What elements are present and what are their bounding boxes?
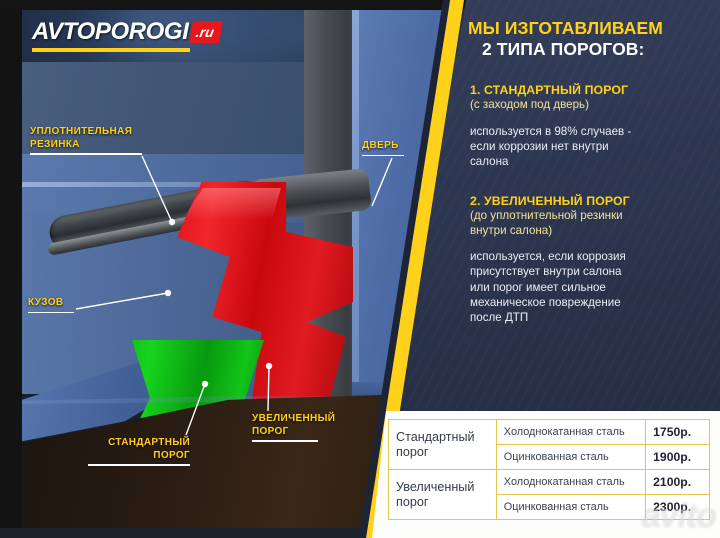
headline-line-1: МЫ ИЗГОТАВЛИВАЕМ (468, 18, 706, 39)
price-row-name: Стандартный порог (389, 420, 497, 470)
section-extended: 2. УВЕЛИЧЕННЫЙ ПОРОГ (до уплотнительной … (470, 194, 706, 325)
callout-body-label: КУЗОВ (28, 297, 74, 310)
callout-body: КУЗОВ (28, 297, 74, 313)
frame-border-top (0, 0, 470, 10)
callout-rubber-seal-label: УПЛОТНИТЕЛЬНАЯ РЕЗИНКА (30, 126, 142, 151)
section-extended-body: используется, если коррозия присутствует… (470, 249, 706, 325)
logo-underline-bar (32, 48, 190, 52)
logo-wordmark: AVTOPOROGI (32, 18, 188, 46)
section-standard-body: используется в 98% случаев - если корроз… (470, 124, 706, 170)
price-row-name: Увеличенный порог (389, 470, 497, 520)
price-row-price: 1900р. (646, 445, 710, 470)
callout-standard-sill: СТАНДАРТНЫЙ ПОРОГ (88, 437, 190, 466)
callout-underline (30, 153, 142, 155)
price-row-price: 2300р. (646, 495, 710, 520)
frame-border-left (0, 0, 22, 538)
callout-rubber-seal: УПЛОТНИТЕЛЬНАЯ РЕЗИНКА (30, 126, 142, 155)
table-row: Увеличенный порог Холоднокатанная сталь … (389, 470, 710, 495)
logo-tld-badge: .ru (190, 21, 224, 43)
callout-underline (252, 440, 318, 442)
headline-line-2: 2 ТИПА ПОРОГОВ: (482, 39, 706, 60)
callout-underline (28, 312, 74, 314)
infographic-root: УПЛОТНИТЕЛЬНАЯ РЕЗИНКА ДВЕРЬ КУЗОВ СТАНД… (0, 0, 720, 538)
section-standard-title: 1. СТАНДАРТНЫЙ ПОРОГ (470, 83, 706, 98)
callout-standard-sill-label: СТАНДАРТНЫЙ ПОРОГ (88, 437, 190, 462)
section-extended-title: 2. УВЕЛИЧЕННЫЙ ПОРОГ (470, 194, 706, 209)
price-row-material: Оцинкованная сталь (496, 495, 645, 520)
callout-extended-sill-label: УВЕЛИЧЕННЫЙ ПОРОГ (252, 413, 335, 438)
table-row: Стандартный порог Холоднокатанная сталь … (389, 420, 710, 445)
price-row-material: Оцинкованная сталь (496, 445, 645, 470)
price-row-material: Холоднокатанная сталь (496, 420, 645, 445)
section-standard: 1. СТАНДАРТНЫЙ ПОРОГ (с заходом под двер… (470, 83, 706, 169)
callout-underline (362, 155, 404, 157)
callout-door-label: ДВЕРЬ (362, 140, 404, 153)
price-row-price: 2100р. (646, 470, 710, 495)
section-extended-subtitle: (до уплотнительной резинки внутри салона… (470, 209, 706, 238)
price-table: Стандартный порог Холоднокатанная сталь … (388, 419, 710, 520)
headline: МЫ ИЗГОТАВЛИВАЕМ 2 ТИПА ПОРОГОВ: (468, 18, 706, 60)
callout-door: ДВЕРЬ (362, 140, 404, 156)
callout-underline (88, 464, 190, 466)
logo-row: AVTOPOROGI .ru (32, 18, 221, 46)
price-row-price: 1750р. (646, 420, 710, 445)
site-logo[interactable]: AVTOPOROGI .ru (32, 18, 221, 52)
price-row-material: Холоднокатанная сталь (496, 470, 645, 495)
section-standard-subtitle: (с заходом под дверь) (470, 98, 706, 113)
callout-extended-sill: УВЕЛИЧЕННЫЙ ПОРОГ (252, 413, 335, 442)
